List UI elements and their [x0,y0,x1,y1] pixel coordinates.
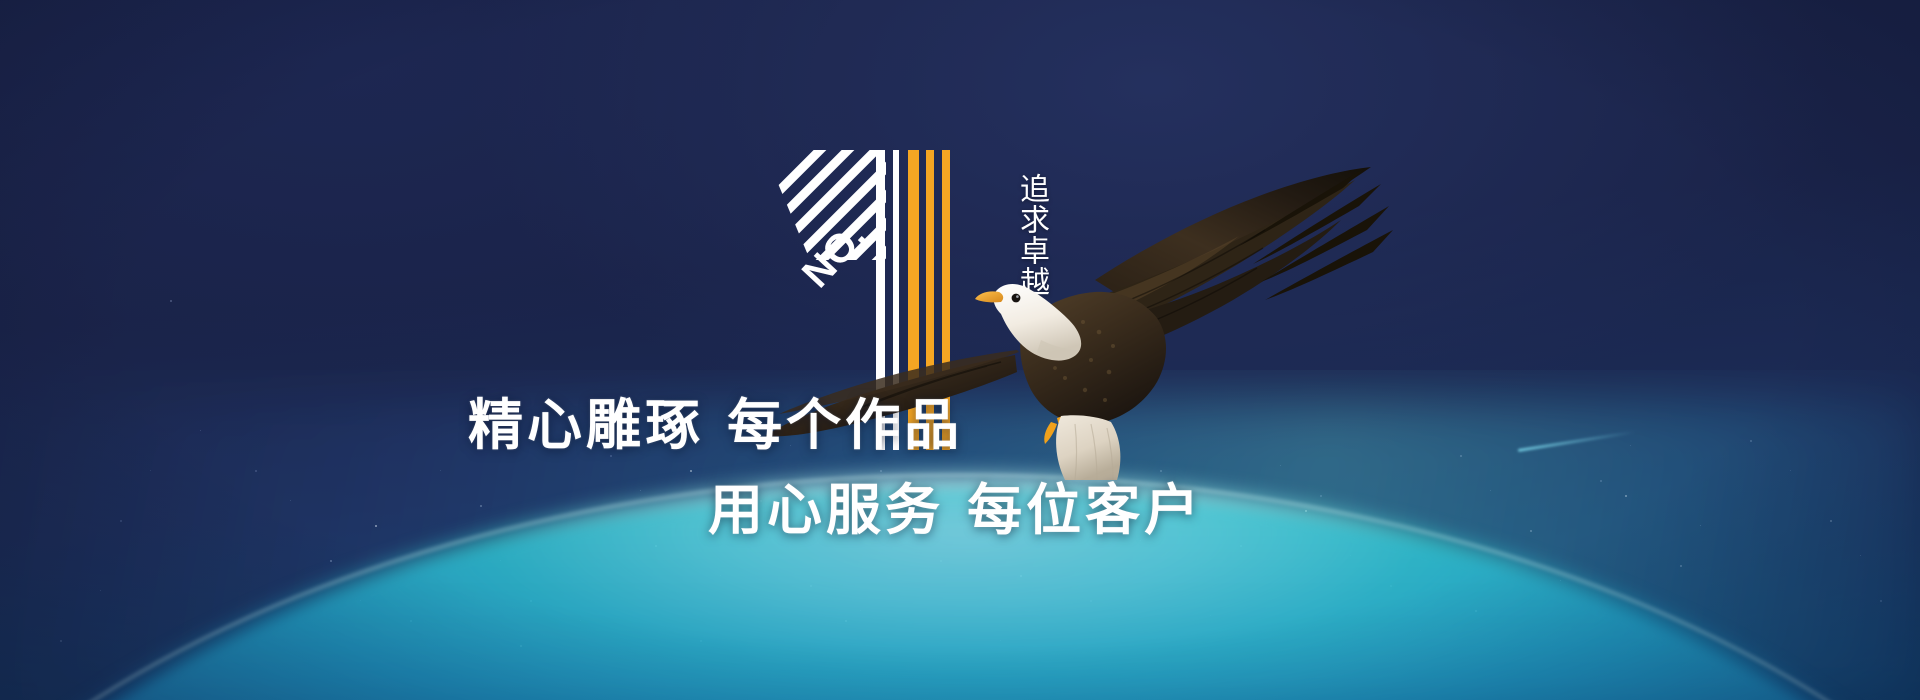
bright-stars-icon [0,0,2,2]
logo-no-wordmark: NO. [794,214,875,296]
headline-secondary: 用心服务 每位客户 [708,465,1203,545]
logo-no-text: NO. [794,214,875,296]
hero-banner: NO. 追求卓越 [0,0,1920,700]
headline-primary: 精心雕琢 每个作品 [468,380,963,460]
logo-flag-stripes [730,70,900,408]
vertical-slogan: 追求卓越 [1003,140,1053,330]
